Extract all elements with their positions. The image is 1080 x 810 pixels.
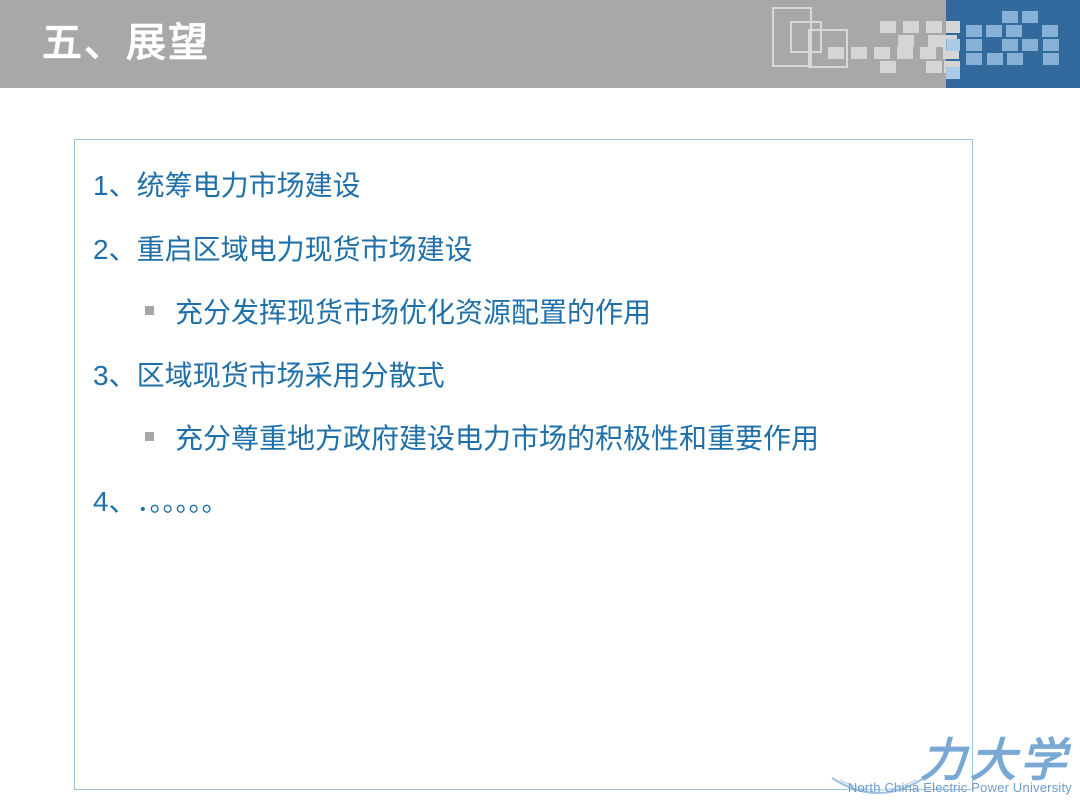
list-item-label: 充分尊重地方政府建设电力市场的积极性和重要作用: [175, 408, 819, 470]
square-bullet-icon: [145, 432, 154, 441]
header-decoration: [0, 0, 1080, 88]
logo-english-name: North China Electric Power University: [848, 780, 1072, 795]
square-bullet-icon: [145, 306, 154, 315]
list-item-label: 重启区域电力现货市场建设: [137, 218, 473, 282]
list-item: 1、 统筹电力市场建设: [85, 154, 966, 218]
content-list: 1、 统筹电力市场建设 2、 重启区域电力现货市场建设 充分发挥现货市场优化资源…: [85, 154, 966, 534]
blue-square-grid-icon: [946, 11, 1059, 65]
list-item-label: ．。。。。。: [137, 470, 228, 534]
slide: 五、展望: [0, 0, 1080, 810]
list-item-number: 1、: [93, 154, 137, 218]
list-item: 充分发挥现货市场优化资源配置的作用: [85, 282, 966, 344]
list-item-number: 3、: [93, 344, 137, 408]
list-item-label: 充分发挥现货市场优化资源配置的作用: [175, 282, 651, 344]
list-item-label: 统筹电力市场建设: [137, 154, 361, 218]
content-box: 1、 统筹电力市场建设 2、 重启区域电力现货市场建设 充分发挥现货市场优化资源…: [74, 139, 973, 790]
list-item-number: 2、: [93, 218, 137, 282]
list-item: 4、 ．。。。。。: [85, 470, 966, 534]
list-item: 2、 重启区域电力现货市场建设: [85, 218, 966, 282]
list-item: 3、 区域现货市场采用分散式: [85, 344, 966, 408]
university-logo: 力大学 North China Electric Power Universit…: [824, 718, 1074, 810]
list-item-label: 区域现货市场采用分散式: [137, 344, 445, 408]
list-item: 充分尊重地方政府建设电力市场的积极性和重要作用: [85, 408, 966, 470]
slide-header: 五、展望: [0, 0, 1080, 88]
list-item-number: 4、: [93, 470, 137, 534]
